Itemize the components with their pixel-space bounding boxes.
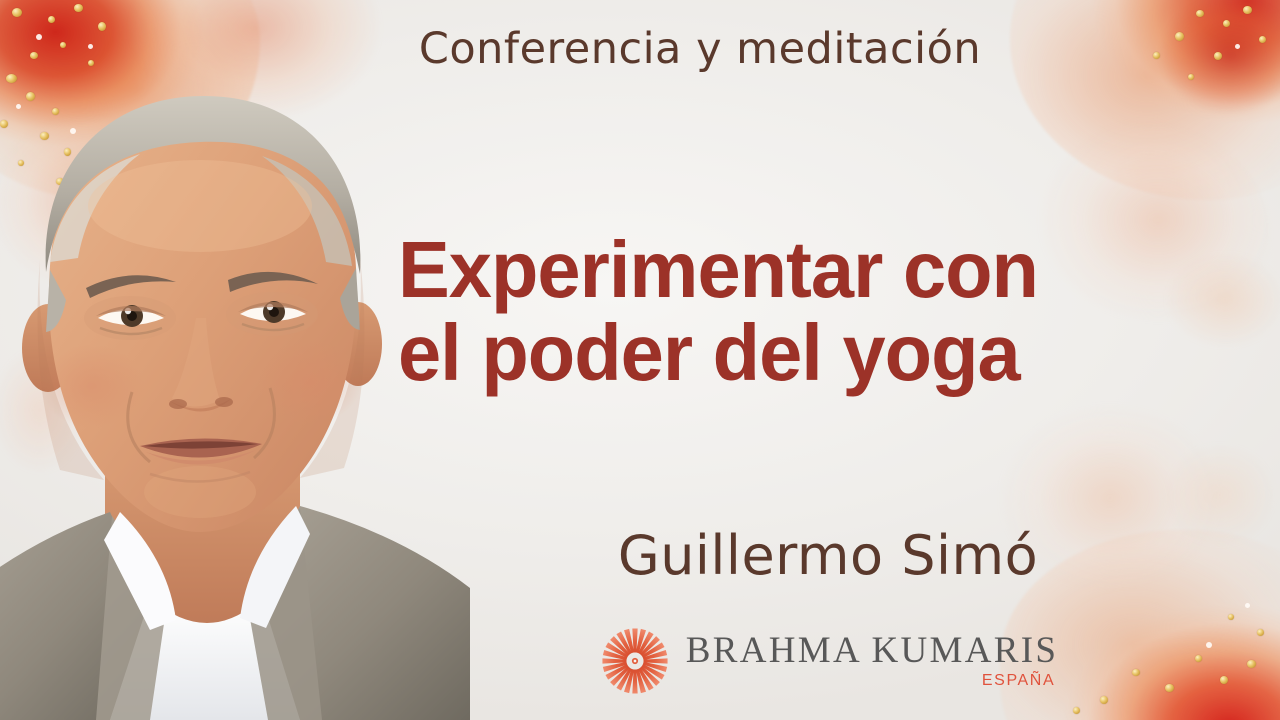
logo-wordmark: BRAHMA KUMARIS ESPAÑA xyxy=(686,632,1058,691)
brahma-kumaris-logo: BRAHMA KUMARIS ESPAÑA xyxy=(398,624,1258,698)
slide-canvas: Conferencia y meditación Experimentar co… xyxy=(0,0,1280,720)
logo-country-text: ESPAÑA xyxy=(982,672,1055,690)
title-line-2: el poder del yoga xyxy=(398,311,1232,394)
event-kicker: Conferencia y meditación xyxy=(0,24,1280,74)
logo-name-text: BRAHMA KUMARIS xyxy=(686,632,1058,671)
page-title: Experimentar con el poder del yoga xyxy=(398,228,1232,394)
speaker-name: Guillermo Simó xyxy=(398,524,1258,587)
title-line-1: Experimentar con xyxy=(398,228,1232,311)
sunburst-icon xyxy=(598,624,672,698)
